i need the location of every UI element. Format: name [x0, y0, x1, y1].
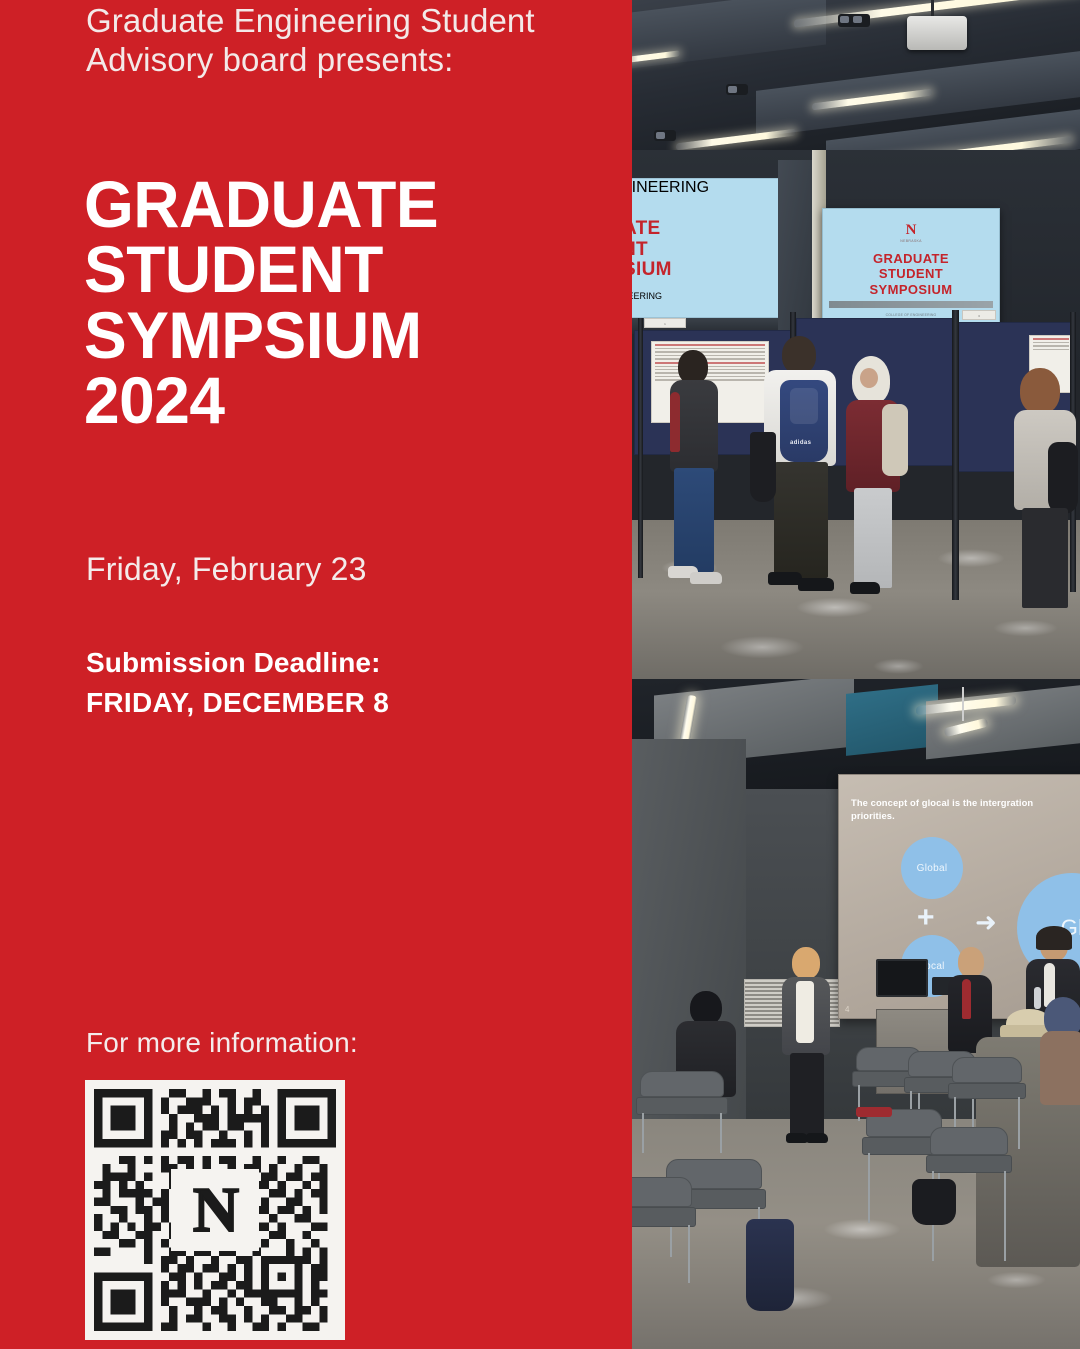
slide-arrow-symbol: ➜ — [975, 909, 997, 935]
chair — [636, 1071, 728, 1153]
chair — [626, 1177, 696, 1287]
more-info-label: For more information: — [86, 1027, 358, 1059]
title-line-1: GRADUATE — [84, 172, 588, 237]
audience-person — [1040, 997, 1080, 1107]
title-line-2: STUDENT — [84, 237, 588, 302]
qr-center-logo: N — [171, 1169, 259, 1251]
poster-root: ENGINEERING DUATE DENT POSIUM ENGINEERIN… — [0, 0, 1080, 1349]
nebraska-n-logo: N — [178, 1175, 252, 1245]
slide-body-text: The concept of glocal is the intergratio… — [839, 775, 1080, 822]
light-cable — [962, 687, 964, 721]
board-number-tag: 1 — [644, 318, 686, 328]
title-line-3: SYMPSIUM — [84, 303, 588, 368]
presenter-line: Graduate Engineering Student Advisory bo… — [86, 2, 566, 80]
monitor — [876, 959, 928, 997]
slide-plus-symbol: + — [917, 903, 935, 933]
qr-code-canvas: N — [94, 1089, 336, 1331]
screen-left-line1: DUATE — [626, 219, 779, 240]
photo-column: ENGINEERING DUATE DENT POSIUM ENGINEERIN… — [626, 0, 1080, 1349]
screen-right-n-logo: N — [823, 223, 999, 238]
attendee-person — [1012, 368, 1080, 608]
screen-right-line2: STUDENT — [823, 266, 999, 281]
screen-right-line3: SYMPOSIUM — [823, 282, 999, 297]
ceiling-panel-blue — [846, 684, 938, 756]
backpack-brand-text: adidas — [790, 440, 811, 446]
screen-right-line1: GRADUATE — [823, 251, 999, 266]
slide-circle-global: Global — [901, 837, 963, 899]
deadline-label: Submission Deadline: — [86, 647, 381, 678]
slide-number: 4 — [845, 1005, 849, 1014]
board-pole — [638, 318, 643, 578]
screen-left-engineering: ENGINEERING — [626, 291, 779, 301]
event-date: Friday, February 23 — [86, 551, 367, 588]
submission-deadline-block: Submission Deadline: FRIDAY, DECEMBER 8 — [86, 643, 389, 723]
photo-poster-session: ENGINEERING DUATE DENT POSIUM ENGINEERIN… — [626, 0, 1080, 679]
bag-on-floor — [912, 1179, 956, 1225]
ceiling-spotlight — [726, 84, 748, 95]
board-number-tag: 3 — [962, 310, 996, 320]
screen-right-bar — [829, 301, 993, 308]
deadline-date: FRIDAY, DECEMBER 8 — [86, 683, 389, 723]
screen-left-line2: DENT — [626, 240, 779, 261]
attendee-person: adidas — [754, 336, 848, 606]
screen-left-brandline: ENGINEERING — [626, 179, 779, 197]
attendee-person — [838, 356, 912, 606]
ceiling-spotlight — [838, 14, 870, 27]
ceiling-projector — [907, 16, 967, 50]
screen-right-wordmark: NEBRASKA — [823, 239, 999, 243]
backpack-on-floor — [746, 1219, 794, 1311]
ceiling-spotlight — [654, 130, 676, 141]
left-red-panel: Graduate Engineering Student Advisory bo… — [0, 0, 626, 1349]
attendee-person — [662, 350, 728, 600]
speaker-person — [778, 947, 834, 1147]
qr-code[interactable]: N — [85, 1080, 345, 1340]
panel-edge-accent — [626, 0, 632, 1349]
page-title: GRADUATE STUDENT SYMPSIUM 2024 — [84, 172, 588, 433]
screen-left-line3: POSIUM — [626, 260, 779, 281]
board-pole — [952, 310, 959, 600]
photo-lecture-session: The concept of glocal is the intergratio… — [626, 679, 1080, 1349]
red-item-on-chair — [856, 1107, 892, 1117]
projection-screen-left: ENGINEERING DUATE DENT POSIUM ENGINEERIN… — [626, 178, 780, 318]
title-line-4: 2024 — [84, 368, 588, 433]
